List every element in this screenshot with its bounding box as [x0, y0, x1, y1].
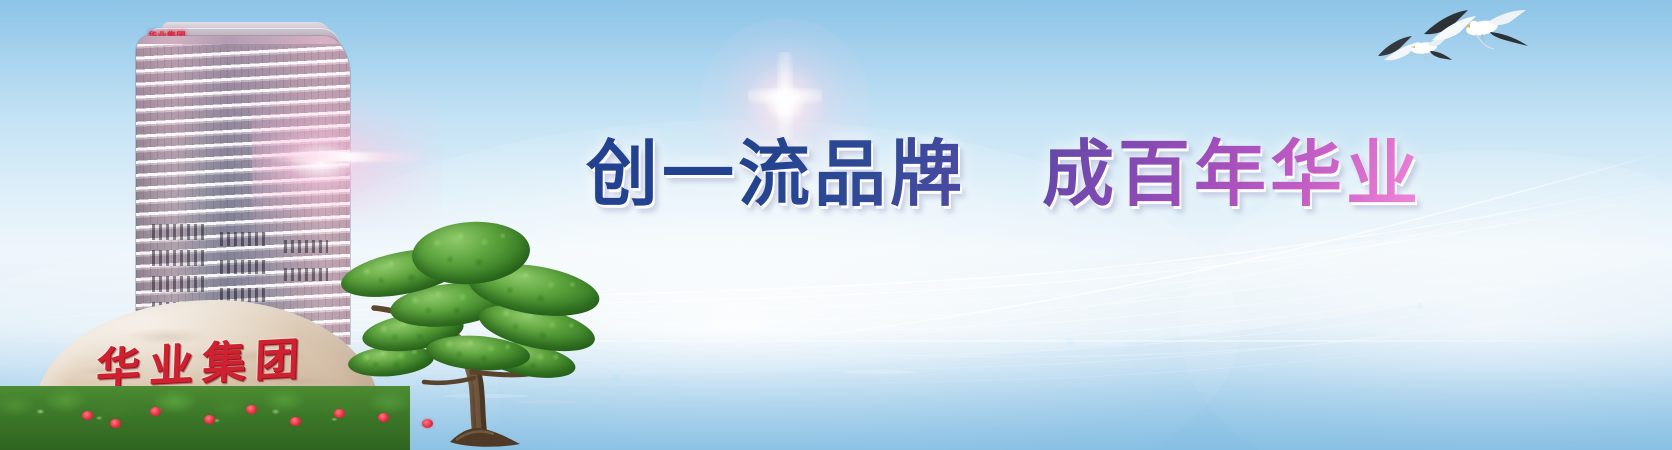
tower-window-block: [152, 250, 204, 266]
slogan-container: 创一流品牌 成百年华业: [586, 130, 1366, 218]
tower-window-block: [220, 232, 266, 246]
tower-window-block: [152, 276, 204, 292]
hedge-flower: [378, 413, 389, 422]
hedge-flower: [110, 419, 121, 428]
garden-hedge: [0, 386, 410, 450]
hedge-flower: [82, 411, 93, 420]
tower-facade: [136, 36, 350, 344]
seagulls-group: [1370, 4, 1550, 114]
tower-window-block: [284, 240, 328, 253]
hero-banner: 华业集团 华业集团: [0, 0, 1672, 450]
hedge-flower: [290, 417, 301, 426]
slogan-text: 创一流品牌 成百年华业: [586, 131, 1422, 217]
hedge-flower: [246, 405, 257, 414]
hedge-flower: [422, 419, 433, 428]
hedge-flower: [150, 407, 161, 416]
tower-window-block: [284, 268, 328, 281]
office-tower: 华业集团: [136, 14, 350, 344]
hedge-flower: [204, 415, 215, 424]
hedge-flower: [334, 409, 345, 418]
tower-window-block: [220, 260, 266, 274]
tower-window-block: [152, 224, 204, 240]
